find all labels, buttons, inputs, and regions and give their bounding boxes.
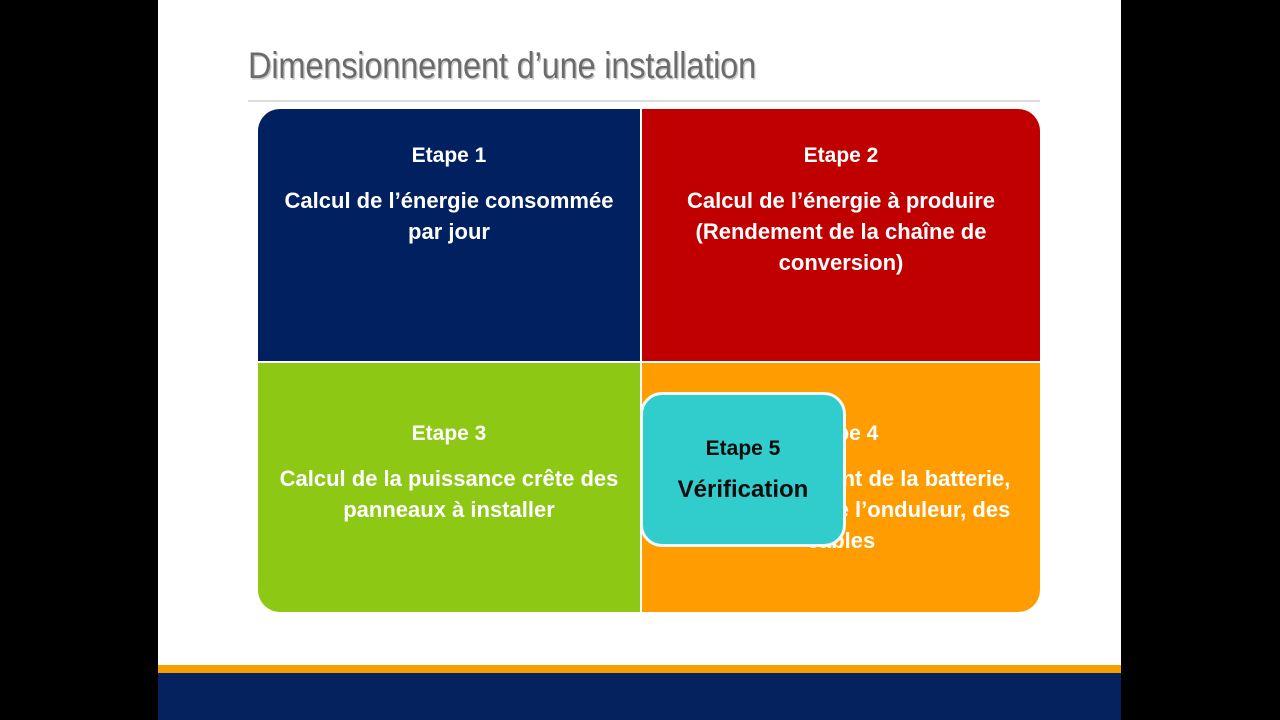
diagram-center-node-etape-5[interactable]: Etape 5 Vérification	[640, 392, 846, 547]
quadrant-step-label: Etape 3	[412, 421, 487, 447]
quadrant-step-label: Etape 2	[804, 143, 879, 169]
slide-viewport: Dimensionnement d’une installation Etape…	[0, 0, 1280, 720]
quadrant-description: Calcul de la puissance crête des panneau…	[269, 463, 629, 525]
diagram-quadrant-etape-1[interactable]: Etape 1 Calcul de l’énergie consommée pa…	[258, 109, 640, 361]
slide-canvas: Dimensionnement d’une installation Etape…	[158, 0, 1121, 720]
process-matrix-diagram: Etape 1 Calcul de l’énergie consommée pa…	[258, 109, 1040, 612]
quadrant-step-label: Etape 1	[412, 143, 487, 169]
diagram-quadrant-etape-2[interactable]: Etape 2 Calcul de l’énergie à produire (…	[642, 109, 1040, 361]
diagram-quadrant-etape-3[interactable]: Etape 3 Calcul de la puissance crête des…	[258, 363, 640, 612]
title-divider	[248, 100, 1040, 102]
quadrant-description: Calcul de l’énergie consommée par jour	[269, 185, 629, 247]
quadrant-description: Calcul de l’énergie à produire (Rendemen…	[661, 185, 1021, 278]
footer-band	[158, 673, 1121, 720]
footer-accent-stripe	[158, 665, 1121, 673]
page-title: Dimensionnement d’une installation	[248, 40, 952, 96]
center-step-label: Etape 5	[706, 436, 781, 462]
center-description: Vérification	[678, 476, 809, 504]
